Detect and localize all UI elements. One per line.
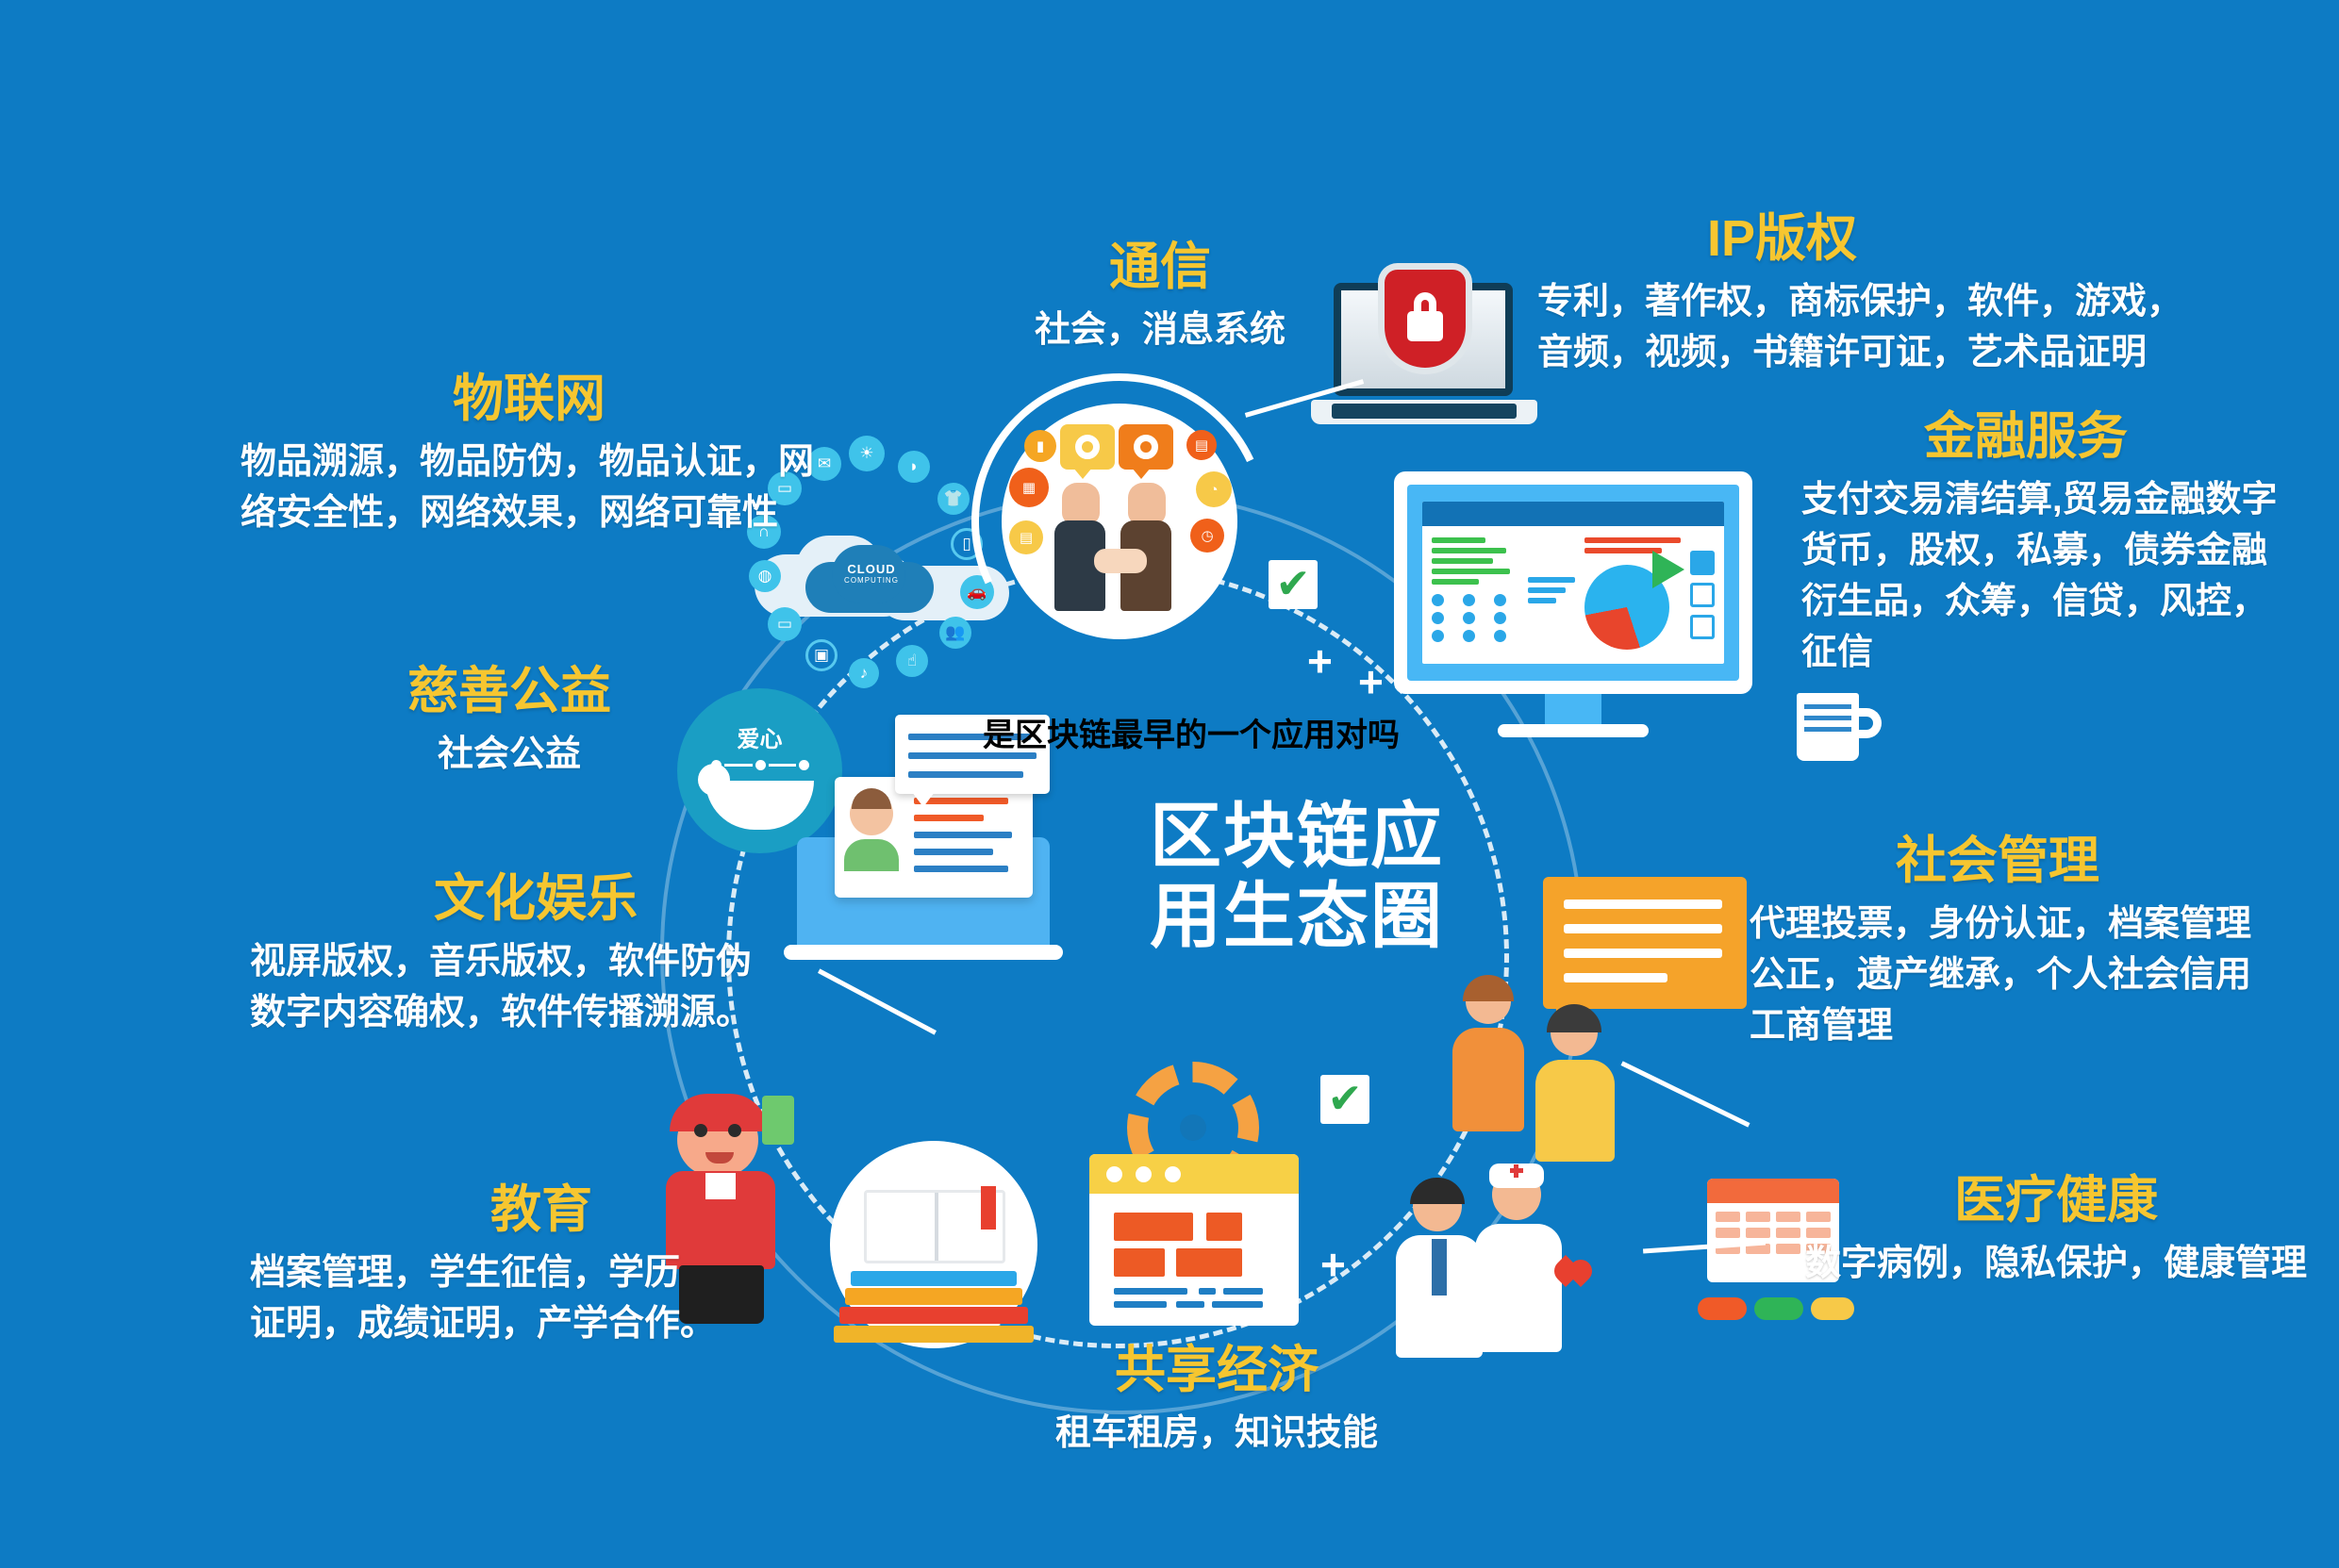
section-education-title: 教育 <box>250 1183 778 1237</box>
connector-culture <box>818 968 937 1034</box>
bookmark-icon <box>981 1186 996 1230</box>
users-icon: 👥 <box>939 617 971 649</box>
section-culture-entertainment-line-1: 视屏版权，音乐版权，软件防伪 <box>250 937 797 988</box>
idea-icon: ☀ <box>849 436 885 471</box>
businessman-right <box>1120 483 1173 611</box>
financial-dashboard-monitor <box>1394 471 1752 745</box>
gear-bubble-right <box>1119 424 1173 470</box>
doccard-laptop-foot <box>784 945 1063 960</box>
checkmark-badge-bottom: ✔ <box>1320 1075 1369 1124</box>
plus-mark-c: + <box>1320 1243 1346 1286</box>
handshake-hands <box>1094 549 1147 573</box>
section-iot-line-2: 络安全性，网络效果，网络可靠性 <box>241 488 825 539</box>
overlay-question-text: 是区块链最早的一个应用对吗 <box>983 717 1407 755</box>
section-social-management-line-3: 工商管理 <box>1750 1001 2315 1052</box>
section-ip-copyright: IP版权 专利，著作权，商标保护，软件，游戏， 音频，视频，书籍许可证，艺术品证… <box>1537 212 2216 379</box>
megaphone-icon: ◗ <box>898 451 930 483</box>
shirt-icon: 👕 <box>937 483 970 515</box>
lock-icon <box>1407 311 1443 341</box>
coffee-mug-icon <box>1797 693 1882 767</box>
briefcase-icon: ▮ <box>1024 430 1056 462</box>
page-title-line-2: 用生态圈 <box>1136 877 1457 957</box>
dashboard-blue-lines <box>1528 537 1575 650</box>
section-financial-services-line-4: 征信 <box>1801 628 2330 679</box>
sharing-economy-illustration <box>1080 1064 1306 1337</box>
identity-document-illustration <box>797 754 1070 976</box>
businessman-left <box>1054 483 1107 611</box>
section-charity: 慈善公益 社会公益 <box>358 665 660 781</box>
check-icon: ✔ <box>1276 564 1311 605</box>
gear-hub <box>1180 1114 1206 1141</box>
section-healthcare-body: 数字病例，隐私保护，健康管理 <box>1792 1239 2320 1290</box>
avatar <box>850 792 893 835</box>
section-charity-body: 社会公益 <box>358 730 660 781</box>
communication-handshake-illustration: ▮ ▦ ▤ ▤ ◔ ◷ <box>1002 404 1237 639</box>
shield-icon <box>1385 270 1466 368</box>
social-management-illustration <box>1452 877 1754 1150</box>
section-sharing-economy-title: 共享经济 <box>1019 1344 1415 1397</box>
student-book <box>762 1096 794 1145</box>
cloud-label-secondary: COMPUTING <box>838 576 905 585</box>
orange-speech-bubble <box>1543 877 1747 1009</box>
monitor-screen <box>1422 502 1724 664</box>
section-education-line-1: 档案管理，学生征信，学历 <box>250 1248 778 1299</box>
person-orange <box>1452 979 1524 1131</box>
clock-icon: ◷ <box>1190 519 1224 553</box>
laptop-keyboard <box>1332 404 1517 419</box>
browser-window <box>1089 1154 1299 1326</box>
section-education-line-2: 证明，成绩证明，产学合作。 <box>250 1299 778 1350</box>
chat-icon: ◍ <box>749 560 781 592</box>
section-healthcare: 医疗健康 数字病例，隐私保护，健康管理 <box>1792 1174 2320 1290</box>
page-title: 区块链应 用生态圈 <box>1136 797 1457 957</box>
infographic-canvas: CLOUD COMPUTING ✉ ☀ ◗ 👕 ▯ 🚗 👥 ☝ ♪ ▣ ▭ ◍ … <box>0 0 2339 1568</box>
browser-titlebar <box>1089 1154 1299 1194</box>
avatar-shoulders <box>844 839 899 871</box>
section-communication-title: 通信 <box>943 240 1377 294</box>
dashboard-checkboxes <box>1690 537 1715 650</box>
section-financial-services-line-1: 支付交易清结算,贸易金融数字 <box>1801 475 2330 526</box>
pie-chart-icon: ◔ <box>1196 471 1232 507</box>
section-education: 教育 档案管理，学生征信，学历 证明，成绩证明，产学合作。 <box>250 1183 778 1350</box>
section-ip-copyright-title: IP版权 <box>1537 212 2216 266</box>
section-healthcare-title: 医疗健康 <box>1792 1174 2320 1228</box>
plus-mark-a: + <box>1307 639 1333 683</box>
music-icon: ♪ <box>849 658 879 688</box>
doctor-male <box>1396 1180 1483 1358</box>
cloud-label-primary: CLOUD <box>838 562 905 576</box>
section-iot-title: 物联网 <box>241 372 825 426</box>
section-social-management-title: 社会管理 <box>1750 834 2315 888</box>
pill-capsule-orange <box>1698 1297 1747 1320</box>
plus-mark-b: + <box>1358 660 1384 703</box>
checkmark-badge-top: ✔ <box>1269 560 1318 609</box>
page-title-line-1: 区块链应 <box>1136 797 1457 877</box>
section-ip-copyright-line-2: 音频，视频，书籍许可证，艺术品证明 <box>1537 328 2216 379</box>
check-icon: ✔ <box>1328 1079 1363 1120</box>
student-cap <box>670 1094 768 1131</box>
section-financial-services-title: 金融服务 <box>1801 410 2330 464</box>
person-yellow <box>1535 1009 1615 1162</box>
section-social-management-line-2: 公正，遗产继承，个人社会信用 <box>1750 950 2315 1001</box>
click-icon: ☝ <box>896 645 928 677</box>
section-charity-title: 慈善公益 <box>358 665 660 718</box>
section-sharing-economy-body: 租车租房，知识技能 <box>1019 1409 1415 1460</box>
dashboard-titlebar <box>1422 502 1724 526</box>
laptop-icon: ▭ <box>768 607 802 641</box>
monitor-foot <box>1498 724 1649 737</box>
dashboard-pie-chart <box>1584 537 1681 650</box>
gear-bubble-left <box>1060 424 1115 470</box>
camera-icon: ▣ <box>805 639 838 671</box>
section-social-management-line-1: 代理投票，身份认证，档案管理 <box>1750 900 2315 950</box>
section-iot-line-1: 物品溯源，物品防伪，物品认证，网 <box>241 437 825 488</box>
healthcare-doctors-illustration <box>1396 1160 1613 1367</box>
document-icon: ▤ <box>1186 430 1217 460</box>
dashboard-text-lines <box>1432 537 1518 650</box>
monitor-frame <box>1394 471 1752 694</box>
section-sharing-economy: 共享经济 租车租房，知识技能 <box>1019 1344 1415 1460</box>
pill-capsule-yellow <box>1811 1297 1854 1320</box>
section-ip-copyright-line-1: 专利，著作权，商标保护，软件，游戏， <box>1537 277 2216 328</box>
section-culture-entertainment-line-2: 数字内容确权，软件传播溯源。 <box>250 988 797 1039</box>
section-financial-services: 金融服务 支付交易清结算,贸易金融数字 货币，股权，私募，债券金融 衍生品，众筹… <box>1801 410 2330 679</box>
section-financial-services-line-2: 货币，股权，私募，债券金融 <box>1801 526 2330 577</box>
calculator-icon: ▤ <box>1009 520 1043 554</box>
section-social-management: 社会管理 代理投票，身份认证，档案管理 公正，遗产继承，个人社会信用 工商管理 <box>1750 834 2315 1052</box>
doctor-nurse <box>1475 1169 1562 1352</box>
heart-icon <box>1554 1250 1598 1292</box>
section-culture-entertainment-title: 文化娱乐 <box>250 872 797 926</box>
education-books-illustration <box>811 1141 1075 1358</box>
section-iot: 物联网 物品溯源，物品防伪，物品认证，网 络安全性，网络效果，网络可靠性 <box>241 372 825 539</box>
section-financial-services-line-3: 衍生品，众筹，信贷，风控， <box>1801 577 2330 628</box>
charity-badge-label: 爱心 <box>677 720 842 753</box>
section-culture-entertainment: 文化娱乐 视屏版权，音乐版权，软件防伪 数字内容确权，软件传播溯源。 <box>250 872 797 1039</box>
bar-chart-icon: ▦ <box>1009 468 1049 507</box>
section-communication-body: 社会，消息系统 <box>943 305 1377 356</box>
section-communication: 通信 社会，消息系统 <box>943 240 1377 356</box>
monitor-neck <box>1545 694 1601 726</box>
pill-capsule-green <box>1754 1297 1803 1320</box>
